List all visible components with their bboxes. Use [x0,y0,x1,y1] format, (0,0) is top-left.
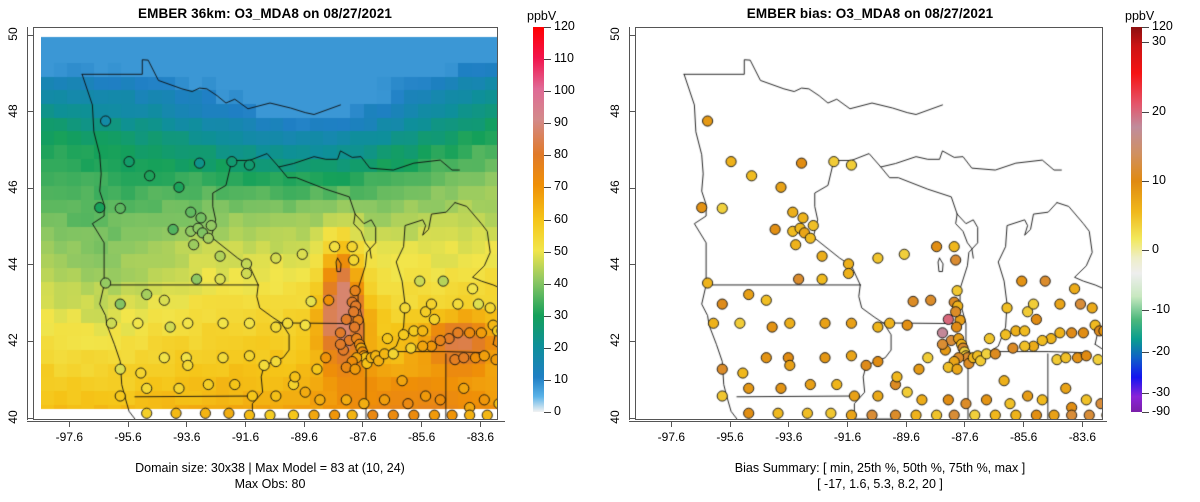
colorbar-tick-mark [1142,393,1149,394]
panel-title-model: EMBER 36km: O3_MDA8 on 08/27/2021 [0,6,530,21]
x-axis-line [629,421,1107,422]
y-axis-line [27,27,28,420]
colorbar-tick-mark [1142,112,1149,113]
x-tick-label: -97.6 [641,430,701,444]
colorbar-tick-mark [1142,181,1149,182]
figure-root: EMBER 36km: O3_MDA8 on 08/27/2021 AQS 40… [0,0,1200,502]
y-tick-label: 48 [608,101,622,121]
colorbar-tick-label: 90 [554,115,568,129]
colorbar-gradient-bias [1131,27,1142,412]
colorbar-tick-mark [544,316,551,317]
x-tick-label: -87.6 [333,430,393,444]
colorbar-tick-mark [1142,250,1149,251]
colorbar-tick-mark [544,27,551,28]
y-tick-label: 40 [608,407,622,427]
colorbar-tick-mark [544,187,551,188]
colorbar-tick-label: 0 [554,404,561,418]
panel-bias: EMBER bias: O3_MDA8 on 08/27/2021 AQS 40… [600,0,1200,502]
colorbar-tick-mark [544,252,551,253]
colorbar-tick-mark [544,380,551,381]
caption-bias-line2: [ -17, 1.6, 5.3, 8.2, 20 ] [620,476,1140,492]
colorbar-tick-mark [544,59,551,60]
y-tick-label: 50 [608,24,622,44]
bias-field-canvas [643,36,1103,419]
y-tick-label: 44 [6,254,20,274]
colorbar-tick-label: 20 [1152,104,1166,118]
colorbar-gradient-model [533,27,544,412]
x-tick-label: -89.6 [274,430,334,444]
colorbar-tick-label: -20 [1152,344,1170,358]
model-field-canvas [41,36,498,419]
colorbar-tick-mark [1142,352,1149,353]
x-tick-label: -91.6 [216,430,276,444]
x-tick-label: -91.6 [818,430,878,444]
x-tick-label: -87.6 [935,430,995,444]
colorbar-tick-mark [544,155,551,156]
colorbar-tick-label: 110 [554,51,574,65]
x-tick-label: -95.6 [98,430,158,444]
x-tick-label: -89.6 [876,430,936,444]
colorbar-tick-label: 120 [554,19,575,33]
caption-model-line1: Domain size: 30x38 | Max Model = 83 at (… [0,460,540,476]
colorbar-tick-mark [1142,412,1149,413]
plot-frame-bias: AQS [635,27,1103,420]
colorbar-tick-label: -10 [1152,302,1170,316]
x-tick-label: -83.6 [450,430,510,444]
colorbar-tick-mark [1142,42,1149,43]
y-axis-line [629,27,630,420]
colorbar-tick-label: 80 [554,147,568,161]
colorbar-tick-mark [1142,310,1149,311]
colorbar-tick-label: 120 [1152,19,1173,33]
x-tick-label: -97.6 [39,430,99,444]
colorbar-tick-mark [1142,27,1149,28]
x-tick-label: -83.6 [1052,430,1112,444]
y-tick-label: 48 [6,101,20,121]
colorbar-tick-label: 40 [554,276,568,290]
colorbar-tick-label: -30 [1152,385,1170,399]
panel-model: EMBER 36km: O3_MDA8 on 08/27/2021 AQS 40… [0,0,600,502]
colorbar-tick-label: 60 [554,212,568,226]
y-tick-label: 46 [6,177,20,197]
colorbar-title-bias: ppbV [1125,9,1154,23]
x-tick-label: -93.6 [759,430,819,444]
colorbar-title-model: ppbV [527,9,556,23]
x-tick-label: -85.6 [392,430,452,444]
y-tick-label: 42 [608,330,622,350]
colorbar-tick-mark [544,123,551,124]
colorbar-tick-label: 10 [1152,173,1166,187]
colorbar-tick-label: 20 [554,340,568,354]
colorbar-tick-label: 50 [554,244,568,258]
colorbar-tick-label: 0 [1152,242,1159,256]
y-tick-label: 46 [608,177,622,197]
colorbar-tick-label: 100 [554,83,575,97]
x-axis-line [27,421,505,422]
colorbar-tick-mark [544,412,551,413]
colorbar-tick-label: -90 [1152,404,1170,418]
colorbar-tick-mark [544,284,551,285]
colorbar-tick-label: 30 [554,308,568,322]
y-tick-label: 42 [6,330,20,350]
colorbar-tick-label: 10 [554,372,568,386]
x-tick-label: -93.6 [157,430,217,444]
caption-bias-line1: Bias Summary: [ min, 25th %, 50th %, 75t… [620,460,1140,476]
y-tick-label: 40 [6,407,20,427]
y-tick-label: 50 [6,24,20,44]
x-tick-label: -85.6 [994,430,1054,444]
plot-frame-model: AQS [33,27,498,420]
bias-raster [643,36,1103,419]
y-tick-label: 44 [608,254,622,274]
colorbar-tick-mark [544,348,551,349]
model-raster [41,36,498,419]
x-tick-label: -95.6 [700,430,760,444]
colorbar-tick-mark [544,91,551,92]
panel-title-bias: EMBER bias: O3_MDA8 on 08/27/2021 [610,6,1130,21]
caption-model-line2: Max Obs: 80 [0,476,540,492]
colorbar-tick-label: 70 [554,179,568,193]
colorbar-tick-mark [544,220,551,221]
colorbar-tick-label: 30 [1152,34,1166,48]
